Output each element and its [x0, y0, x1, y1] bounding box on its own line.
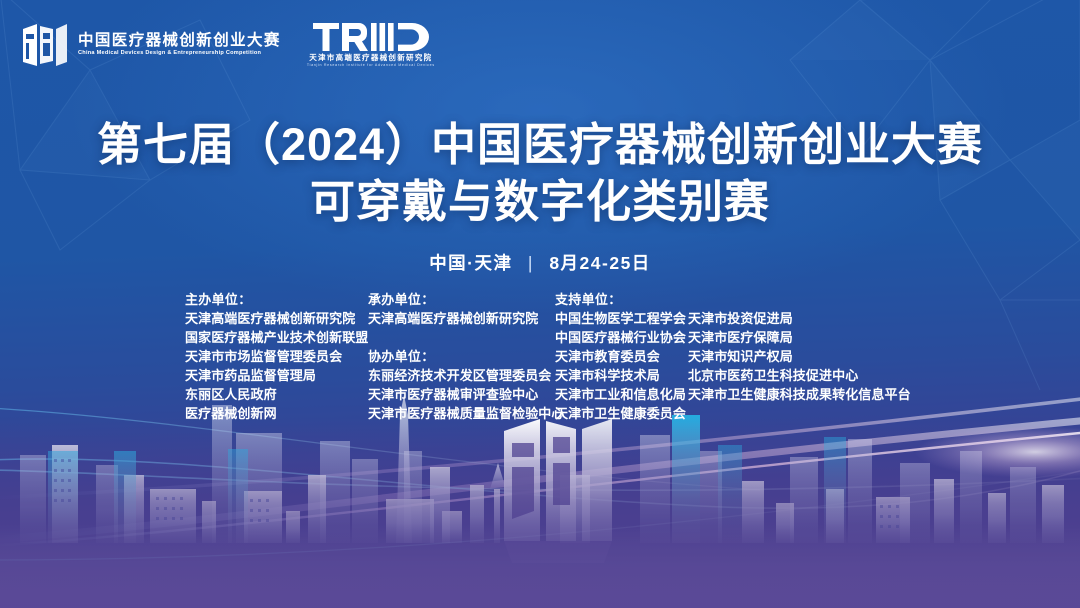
organizer-item: 天津高端医疗器械创新研究院: [185, 309, 368, 328]
supporter-item: 天津市卫生健康委员会: [555, 404, 688, 423]
supporter-item: 天津市工业和信息化局: [555, 385, 688, 404]
bottom-glow-overlay: [0, 418, 1080, 608]
subtitle-date: 8月24-25日: [549, 253, 651, 273]
logo-bar: 中国医疗器械创新创业大赛 China Medical Devices Desig…: [22, 22, 435, 67]
host-column: 承办单位： 天津高端医疗器械创新研究院 协办单位： 东丽经济技术开发区管理委员会…: [368, 290, 555, 423]
supporter-heading: 支持单位：: [555, 290, 688, 309]
supporter-item: 天津市知识产权局: [688, 347, 898, 366]
organizer-item: 天津市药品监督管理局: [185, 366, 368, 385]
city-skyline-silhouette: [0, 393, 1080, 608]
organizer-item: 天津市市场监督管理委员会: [185, 347, 368, 366]
host-heading: 承办单位：: [368, 290, 555, 309]
organizations-block: 主办单位： 天津高端医疗器械创新研究院 国家医疗器械产业技术创新联盟 天津市市场…: [185, 290, 898, 423]
column-spacer: [368, 328, 555, 347]
supporter-column-left: 支持单位： 中国生物医学工程学会 中国医疗器械行业协会 天津市教育委员会 天津市…: [555, 290, 688, 423]
co-host-item: 东丽经济技术开发区管理委员会: [368, 366, 555, 385]
subtitle-location: 中国·天津: [429, 253, 512, 273]
co-host-item: 天津市医疗器械审评查验中心: [368, 385, 555, 404]
subtitle-separator: |: [528, 253, 534, 274]
contest-logo-en: China Medical Devices Design & Entrepren…: [78, 50, 281, 56]
supporter-item: 天津市医疗保障局: [688, 328, 898, 347]
title-line-2: 可穿戴与数字化类别赛: [0, 173, 1080, 230]
supporter-item: 天津市科学技术局: [555, 366, 688, 385]
institute-logo-en: Tianjin Research Institute for Advanced …: [307, 64, 435, 68]
co-host-item: 天津市医疗器械质量监督检验中心: [368, 404, 555, 423]
organizer-heading: 主办单位：: [185, 290, 368, 309]
co-host-heading: 协办单位：: [368, 347, 555, 366]
contest-logo: 中国医疗器械创新创业大赛 China Medical Devices Desig…: [22, 23, 281, 67]
open-door-gate-logo-icon: [22, 23, 68, 67]
center-emblem-icon: [504, 419, 612, 563]
trimd-wordmark-icon: [313, 22, 429, 52]
institute-logo-cn: 天津市高端医疗器械创新研究院: [309, 54, 432, 62]
contest-logo-cn: 中国医疗器械创新创业大赛: [78, 33, 281, 49]
supporter-item: 北京市医药卫生科技促进中心: [688, 366, 898, 385]
supporter-item: 天津市卫生健康科技成果转化信息平台: [688, 385, 898, 404]
organizer-item: 东丽区人民政府: [185, 385, 368, 404]
organizer-item: 医疗器械创新网: [185, 404, 368, 423]
organizer-column: 主办单位： 天津高端医疗器械创新研究院 国家医疗器械产业技术创新联盟 天津市市场…: [185, 290, 368, 423]
poster-canvas: 中国医疗器械创新创业大赛 China Medical Devices Desig…: [0, 0, 1080, 608]
subtitle: 中国·天津 | 8月24-25日: [0, 250, 1080, 275]
title-line-1: 第七届（2024）中国医疗器械创新创业大赛: [0, 116, 1080, 173]
organizer-item: 国家医疗器械产业技术创新联盟: [185, 328, 368, 347]
supporter-column-right: 天津市投资促进局 天津市医疗保障局 天津市知识产权局 北京市医药卫生科技促进中心…: [688, 290, 898, 404]
institute-logo: 天津市高端医疗器械创新研究院 Tianjin Research Institut…: [307, 22, 435, 67]
title-block: 第七届（2024）中国医疗器械创新创业大赛 可穿戴与数字化类别赛 中国·天津 |…: [0, 116, 1080, 275]
supporter-item: 天津市投资促进局: [688, 309, 898, 328]
supporter-column: 支持单位： 中国生物医学工程学会 中国医疗器械行业协会 天津市教育委员会 天津市…: [555, 290, 898, 423]
supporter-item: 中国生物医学工程学会: [555, 309, 688, 328]
column-spacer: [688, 290, 898, 309]
supporter-item: 天津市教育委员会: [555, 347, 688, 366]
supporter-item: 中国医疗器械行业协会: [555, 328, 688, 347]
host-item: 天津高端医疗器械创新研究院: [368, 309, 555, 328]
